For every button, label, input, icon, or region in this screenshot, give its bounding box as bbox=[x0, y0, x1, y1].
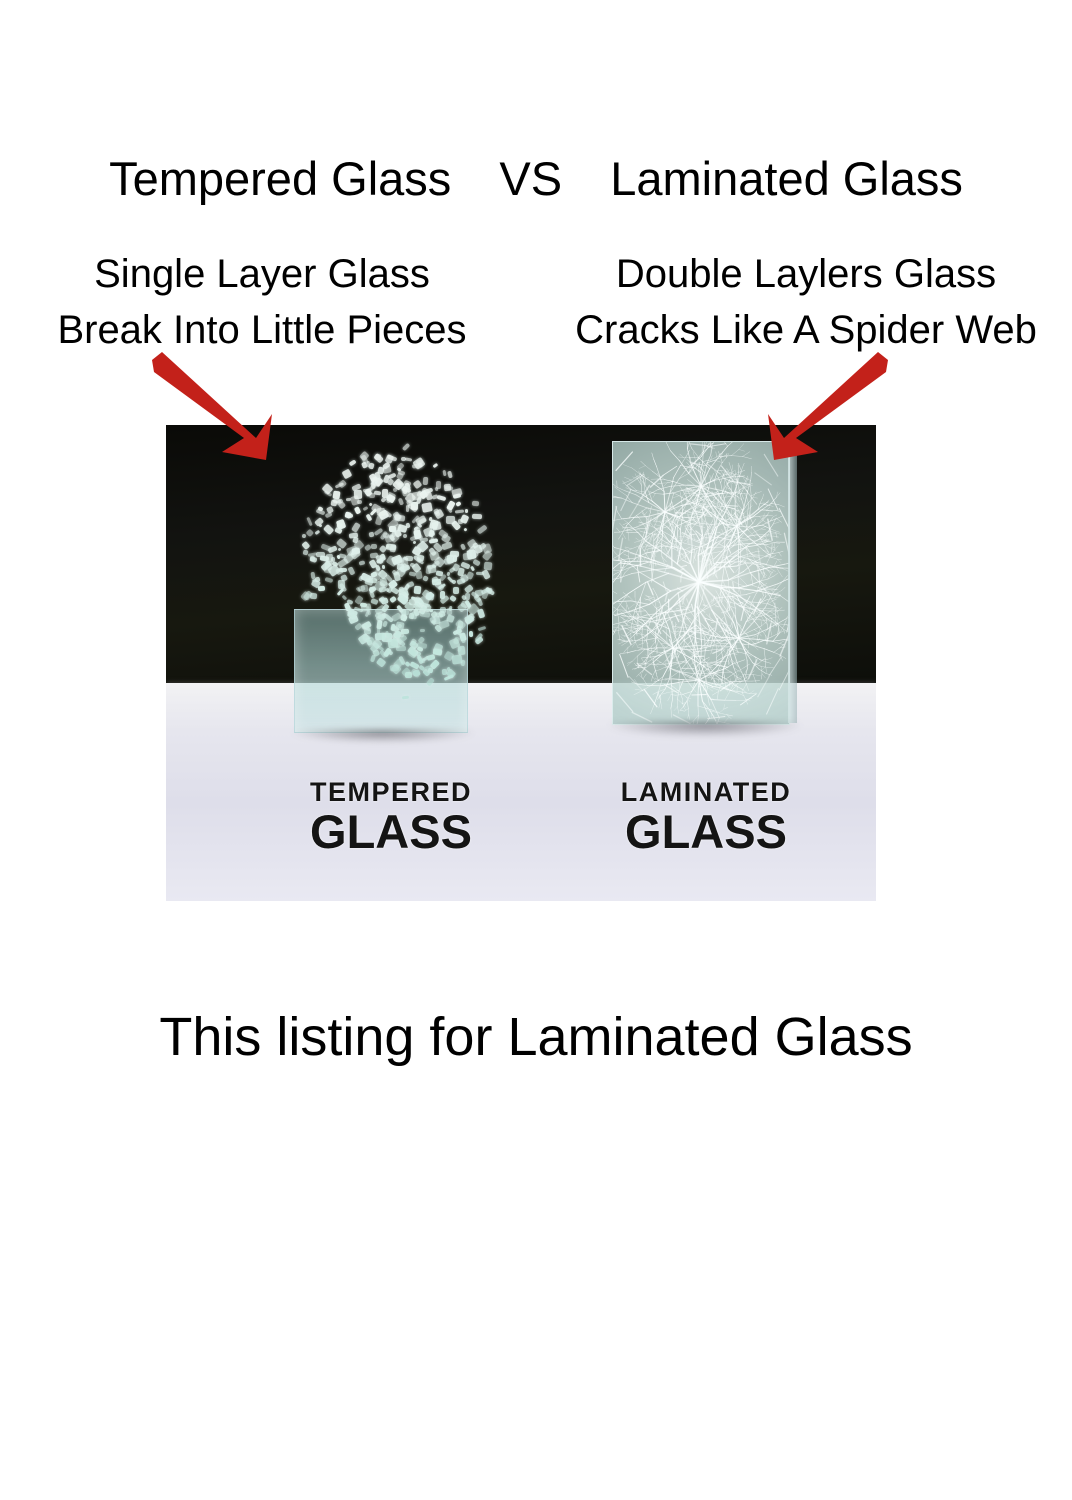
glass-granule bbox=[341, 469, 352, 480]
crack-line bbox=[739, 652, 746, 654]
crack-line bbox=[639, 572, 652, 580]
crack-line bbox=[711, 551, 713, 562]
crack-line bbox=[621, 490, 631, 511]
crack-line bbox=[685, 547, 690, 550]
crack-line bbox=[655, 521, 660, 522]
crack-line bbox=[752, 581, 753, 586]
glass-granule bbox=[401, 443, 409, 451]
crack-line bbox=[687, 462, 691, 466]
crack-line bbox=[642, 657, 647, 658]
crack-line bbox=[625, 547, 631, 549]
crack-line bbox=[744, 563, 749, 564]
crack-line bbox=[626, 532, 631, 533]
crack-line bbox=[759, 536, 767, 537]
crack-line bbox=[765, 658, 766, 666]
glass-granule bbox=[422, 477, 427, 485]
crack-line bbox=[679, 680, 683, 691]
crack-line bbox=[752, 593, 756, 601]
crack-line bbox=[743, 684, 746, 690]
crack-line bbox=[629, 604, 635, 609]
crack-line bbox=[645, 466, 652, 472]
crack-line bbox=[660, 666, 667, 669]
crack-line bbox=[629, 485, 633, 488]
crack-line bbox=[617, 487, 625, 490]
crack-line bbox=[624, 519, 628, 522]
crack-line bbox=[772, 557, 778, 559]
crack-line bbox=[713, 650, 722, 654]
glass-granule bbox=[302, 534, 306, 538]
crack-line bbox=[747, 553, 748, 558]
crack-line bbox=[757, 519, 763, 526]
crack-line bbox=[768, 519, 772, 540]
crack-line bbox=[712, 688, 718, 690]
crack-line bbox=[694, 550, 697, 558]
crack-line bbox=[657, 640, 659, 645]
crack-line bbox=[651, 705, 655, 714]
crack-line bbox=[653, 588, 657, 594]
crack-line bbox=[661, 683, 679, 686]
subheading-tempered-line-2: Break Into Little Pieces bbox=[2, 302, 522, 358]
crack-line bbox=[764, 585, 768, 587]
crack-line bbox=[728, 442, 735, 446]
crack-line bbox=[755, 647, 758, 650]
crack-line bbox=[776, 591, 782, 594]
glass-granule bbox=[412, 479, 421, 489]
glass-granule bbox=[457, 626, 461, 635]
crack-line bbox=[646, 663, 653, 668]
crack-line bbox=[668, 697, 670, 701]
tempered-glass-specimen bbox=[276, 443, 496, 743]
crack-line bbox=[753, 614, 757, 617]
crack-line bbox=[757, 635, 758, 641]
crack-line bbox=[754, 630, 758, 633]
crack-line bbox=[773, 599, 777, 601]
crack-line bbox=[613, 591, 617, 594]
crack-line bbox=[753, 619, 764, 620]
glass-granule bbox=[371, 598, 379, 605]
crack-line bbox=[688, 480, 695, 485]
crack-line bbox=[743, 478, 745, 482]
glass-granule bbox=[382, 620, 388, 627]
crack-line bbox=[697, 639, 708, 641]
crack-line bbox=[711, 700, 719, 718]
crack-line bbox=[731, 606, 735, 608]
crack-line bbox=[646, 555, 650, 560]
crack-line bbox=[620, 523, 623, 526]
crack-line bbox=[733, 650, 737, 664]
glass-granule bbox=[369, 462, 375, 469]
glass-granule bbox=[351, 522, 361, 533]
crack-line bbox=[738, 576, 739, 586]
crack-line bbox=[683, 701, 687, 707]
glass-granule bbox=[416, 655, 423, 665]
crack-line bbox=[772, 617, 778, 618]
crack-line bbox=[634, 541, 639, 542]
crack-line bbox=[654, 651, 662, 653]
crack-line bbox=[661, 548, 662, 557]
crack-line bbox=[643, 679, 647, 686]
crack-line bbox=[711, 700, 725, 701]
crack-line bbox=[676, 694, 683, 695]
crack-line bbox=[717, 672, 723, 673]
crack-line bbox=[613, 563, 620, 570]
crack-line bbox=[703, 452, 704, 461]
crack-line bbox=[680, 461, 689, 474]
glass-granule bbox=[443, 469, 447, 476]
glass-granule bbox=[374, 491, 382, 496]
glass-granule bbox=[306, 517, 312, 526]
glass-granule bbox=[370, 553, 378, 559]
crack-line bbox=[701, 473, 702, 481]
glass-granule bbox=[425, 566, 431, 575]
crack-line bbox=[784, 621, 786, 626]
glass-granule bbox=[450, 550, 460, 557]
photo-caption-laminated-big: GLASS bbox=[561, 807, 851, 857]
crack-line bbox=[613, 614, 614, 616]
crack-line bbox=[773, 640, 785, 642]
crack-line bbox=[691, 536, 692, 548]
crack-line bbox=[760, 531, 769, 539]
crack-line bbox=[771, 569, 775, 572]
crack-line bbox=[699, 458, 710, 469]
crack-line bbox=[644, 689, 657, 706]
subheading-tempered-line-1: Single Layer Glass bbox=[2, 246, 522, 302]
crack-line bbox=[673, 637, 675, 641]
crack-line bbox=[776, 533, 777, 538]
crack-line bbox=[746, 490, 757, 504]
crack-line bbox=[777, 619, 786, 624]
crack-line bbox=[679, 680, 680, 688]
crack-line bbox=[692, 449, 699, 458]
glass-granule bbox=[336, 519, 346, 530]
glass-granule bbox=[476, 572, 484, 576]
crack-line bbox=[670, 451, 679, 461]
glass-granule bbox=[405, 457, 413, 461]
crack-line bbox=[662, 556, 664, 563]
crack-line bbox=[664, 492, 665, 513]
glass-granule bbox=[338, 501, 347, 510]
glass-granule bbox=[410, 611, 417, 619]
crack-line bbox=[775, 546, 778, 550]
crack-line bbox=[739, 622, 746, 638]
crack-line bbox=[692, 637, 694, 642]
glass-granule bbox=[362, 506, 368, 511]
glass-granule bbox=[472, 559, 480, 567]
crack-line bbox=[706, 442, 708, 443]
glass-granule bbox=[338, 580, 345, 589]
crack-line bbox=[743, 457, 752, 459]
glass-granule bbox=[387, 586, 393, 593]
crack-line bbox=[685, 538, 691, 542]
glass-granule bbox=[453, 587, 460, 594]
crack-line bbox=[765, 535, 767, 539]
crack-line bbox=[752, 635, 758, 638]
crack-line bbox=[677, 518, 678, 525]
crack-line bbox=[712, 692, 718, 696]
crack-line bbox=[762, 674, 765, 678]
crack-line bbox=[655, 642, 657, 649]
glass-granule bbox=[413, 586, 421, 595]
crack-line bbox=[674, 707, 678, 711]
crack-line bbox=[726, 673, 735, 679]
crack-line bbox=[743, 514, 745, 521]
glass-granule bbox=[358, 561, 365, 567]
crack-line bbox=[634, 635, 636, 642]
crack-line bbox=[624, 647, 628, 652]
page-title: Tempered Glass VS Laminated Glass bbox=[0, 150, 1072, 208]
glass-granule bbox=[436, 481, 441, 489]
crack-line bbox=[765, 611, 770, 614]
crack-line bbox=[688, 682, 693, 688]
crack-line bbox=[623, 465, 632, 469]
crack-line bbox=[726, 613, 734, 622]
listing-note: This listing for Laminated Glass bbox=[0, 1003, 1072, 1071]
crack-line bbox=[744, 540, 748, 541]
crack-line bbox=[736, 568, 740, 573]
crack-line bbox=[678, 615, 683, 617]
crack-line bbox=[725, 690, 731, 700]
glass-granule bbox=[306, 528, 314, 536]
glass-granule bbox=[371, 543, 377, 548]
crack-line bbox=[617, 528, 620, 532]
crack-line bbox=[681, 492, 682, 498]
crack-line bbox=[779, 551, 783, 552]
crack-line bbox=[620, 653, 627, 654]
crack-line bbox=[682, 672, 693, 673]
crack-line bbox=[682, 565, 687, 566]
crack-line bbox=[700, 560, 707, 561]
crack-line bbox=[762, 494, 763, 498]
crack-line bbox=[776, 510, 780, 511]
crack-line bbox=[686, 607, 691, 609]
crack-line bbox=[616, 452, 632, 470]
crack-line bbox=[741, 560, 746, 561]
laminated-glass-edge bbox=[788, 441, 797, 723]
crack-line bbox=[721, 483, 723, 494]
crack-line bbox=[733, 660, 737, 664]
glass-granule bbox=[440, 591, 446, 599]
crack-line bbox=[652, 677, 655, 681]
crack-line bbox=[613, 542, 614, 547]
crack-line bbox=[764, 649, 765, 659]
glass-granule bbox=[326, 506, 334, 514]
glass-granule bbox=[348, 567, 356, 576]
glass-granule bbox=[403, 533, 407, 538]
crack-line bbox=[670, 692, 672, 697]
crack-line bbox=[620, 654, 628, 677]
crack-line bbox=[778, 505, 784, 507]
crack-line bbox=[687, 459, 690, 462]
glass-granule bbox=[446, 575, 453, 582]
crack-line bbox=[639, 466, 645, 469]
crack-line bbox=[711, 622, 715, 623]
crack-line bbox=[733, 582, 734, 592]
crack-line bbox=[663, 466, 677, 475]
crack-line bbox=[620, 491, 627, 496]
crack-line bbox=[641, 461, 646, 465]
crack-line bbox=[751, 585, 759, 588]
crack-line bbox=[742, 493, 744, 499]
glass-granule bbox=[412, 669, 421, 677]
crack-line bbox=[648, 582, 653, 595]
crack-line bbox=[628, 582, 646, 594]
crack-line bbox=[703, 605, 707, 606]
glass-granule bbox=[443, 484, 450, 491]
glass-granule bbox=[387, 638, 398, 648]
crack-line bbox=[738, 463, 741, 470]
crack-line bbox=[694, 656, 703, 657]
crack-line bbox=[719, 456, 732, 457]
crack-line bbox=[751, 576, 752, 581]
crack-line bbox=[613, 547, 615, 553]
crack-line bbox=[673, 481, 684, 485]
crack-line bbox=[691, 516, 700, 518]
crack-line bbox=[764, 618, 772, 620]
crack-line bbox=[779, 572, 782, 577]
crack-line bbox=[639, 674, 644, 678]
crack-line bbox=[774, 652, 781, 655]
glass-granule bbox=[431, 494, 437, 499]
crack-line bbox=[663, 660, 666, 664]
laminated-pane-shadow bbox=[610, 721, 800, 737]
crack-line bbox=[774, 648, 780, 652]
crack-line bbox=[704, 521, 705, 526]
crack-line bbox=[663, 527, 667, 528]
crack-line bbox=[741, 463, 744, 470]
glass-granule bbox=[402, 695, 409, 699]
crack-line bbox=[717, 652, 722, 657]
crack-line bbox=[740, 495, 744, 507]
crack-line bbox=[639, 637, 645, 640]
crack-line bbox=[671, 698, 673, 709]
crack-line bbox=[732, 449, 739, 455]
crack-line bbox=[750, 518, 753, 524]
crack-line bbox=[732, 654, 737, 655]
crack-line bbox=[746, 684, 748, 691]
crack-line bbox=[662, 556, 666, 561]
glass-granule bbox=[330, 499, 337, 506]
glass-granule bbox=[460, 544, 465, 551]
crack-line bbox=[774, 536, 779, 537]
crack-line bbox=[710, 475, 711, 480]
crack-line bbox=[732, 652, 739, 654]
crack-line bbox=[686, 616, 692, 624]
crack-line bbox=[665, 480, 674, 482]
crack-line bbox=[661, 701, 662, 709]
glass-granule bbox=[483, 562, 491, 571]
crack-line bbox=[638, 528, 641, 532]
crack-line bbox=[717, 692, 718, 699]
crack-line bbox=[687, 599, 689, 603]
crack-line bbox=[638, 664, 652, 674]
subheading-row: Single Layer Glass Break Into Little Pie… bbox=[0, 246, 1072, 366]
crack-line bbox=[676, 513, 686, 514]
crack-line bbox=[627, 661, 632, 665]
crack-line bbox=[760, 498, 762, 503]
crack-line bbox=[613, 604, 614, 607]
crack-line bbox=[705, 657, 709, 659]
crack-line bbox=[690, 444, 707, 446]
glass-granule bbox=[448, 566, 455, 573]
crack-line bbox=[677, 699, 682, 703]
glass-granule bbox=[432, 462, 438, 468]
crack-line bbox=[768, 541, 775, 542]
crack-line bbox=[707, 463, 720, 473]
crack-line bbox=[748, 622, 751, 624]
crack-line bbox=[767, 689, 779, 714]
crack-line bbox=[671, 493, 673, 501]
crack-line bbox=[653, 556, 654, 569]
glass-granule bbox=[447, 470, 453, 478]
crack-line bbox=[677, 548, 680, 555]
crack-line bbox=[689, 442, 693, 449]
crack-line bbox=[634, 691, 643, 695]
glass-granule bbox=[380, 497, 386, 503]
laminated-glass-specimen bbox=[598, 433, 813, 733]
crack-line bbox=[750, 567, 770, 573]
crack-line bbox=[617, 693, 633, 712]
crack-line bbox=[725, 664, 732, 669]
crack-line bbox=[743, 452, 750, 457]
crack-line bbox=[654, 459, 657, 466]
crack-line bbox=[619, 533, 623, 539]
crack-line bbox=[622, 616, 628, 618]
crack-line bbox=[782, 587, 786, 590]
crack-line bbox=[753, 674, 756, 682]
crack-line bbox=[767, 658, 772, 660]
glass-granule bbox=[469, 630, 473, 636]
crack-line bbox=[702, 701, 709, 718]
crack-line bbox=[629, 676, 643, 691]
glass-granule bbox=[339, 568, 347, 572]
glass-granule bbox=[476, 525, 487, 535]
subheading-laminated-line-2: Cracks Like A Spider Web bbox=[540, 302, 1072, 358]
crack-line bbox=[753, 674, 761, 676]
crack-line bbox=[751, 472, 752, 480]
crack-line bbox=[727, 611, 734, 622]
crack-line bbox=[768, 604, 774, 607]
crack-line bbox=[637, 565, 640, 582]
crack-line bbox=[732, 465, 733, 471]
crack-line bbox=[771, 631, 772, 635]
crack-line bbox=[618, 610, 626, 611]
crack-line bbox=[621, 561, 622, 582]
subheading-tempered: Single Layer Glass Break Into Little Pie… bbox=[2, 246, 522, 358]
crack-line bbox=[764, 649, 774, 653]
crack-line bbox=[717, 646, 720, 651]
glass-granule bbox=[425, 491, 433, 500]
glass-granule bbox=[370, 655, 376, 662]
glass-granule bbox=[402, 486, 407, 494]
crack-line bbox=[699, 622, 700, 628]
glass-granule bbox=[314, 530, 320, 535]
crack-line bbox=[739, 693, 745, 696]
glass-granule bbox=[387, 472, 396, 479]
crack-line bbox=[684, 485, 701, 486]
glass-granule bbox=[348, 459, 356, 466]
glass-granule bbox=[449, 595, 457, 603]
crack-line bbox=[761, 622, 766, 626]
glass-granule bbox=[413, 541, 417, 545]
crack-line bbox=[632, 656, 637, 662]
crack-line bbox=[641, 485, 642, 494]
crack-line bbox=[627, 661, 632, 663]
crack-line bbox=[728, 599, 729, 610]
crack-line bbox=[746, 591, 757, 594]
crack-line bbox=[752, 645, 764, 649]
crack-line bbox=[761, 666, 768, 667]
crack-line bbox=[647, 546, 652, 547]
